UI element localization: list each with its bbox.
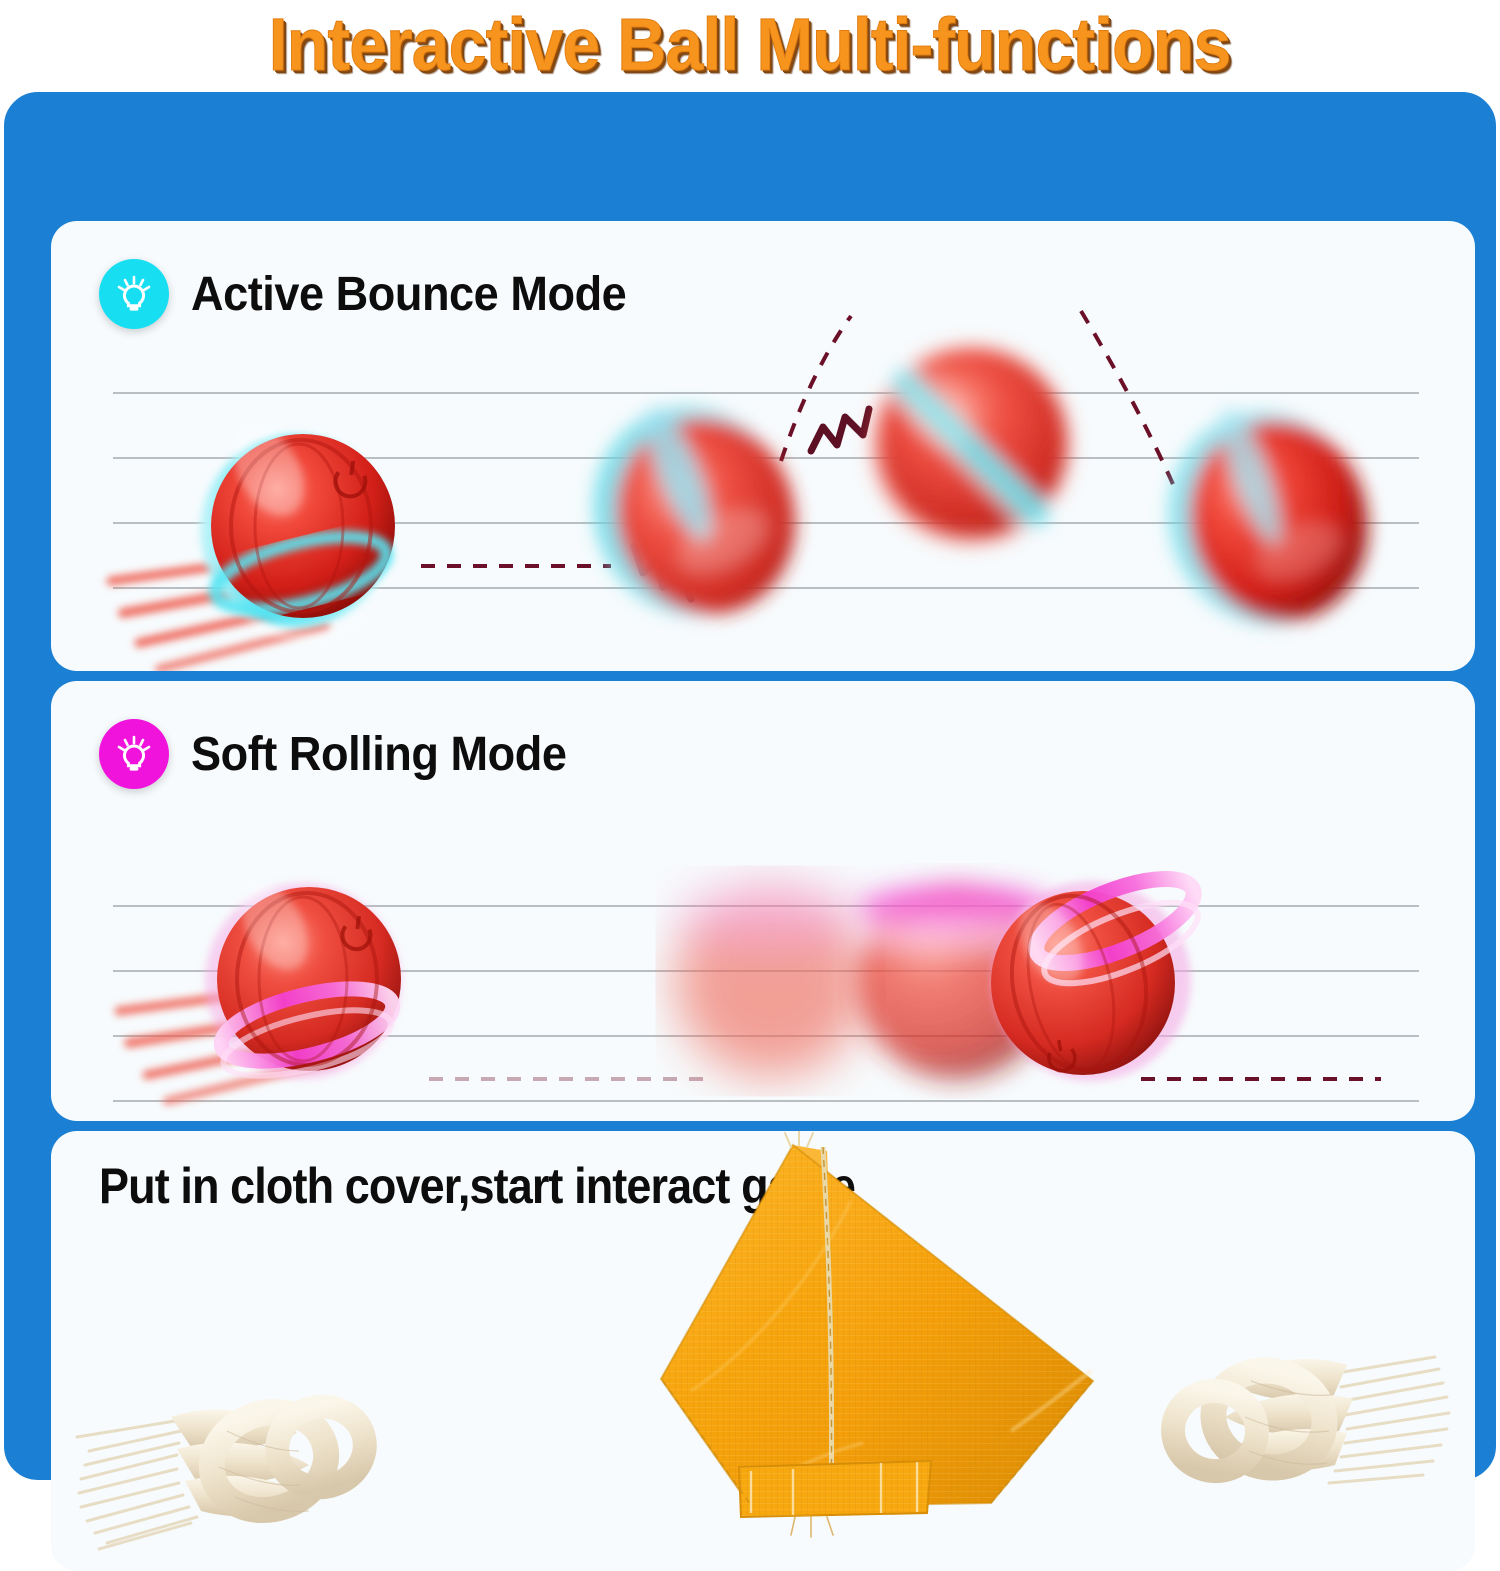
panel-cloth-cover: Put in cloth cover,start interact game xyxy=(51,1131,1475,1571)
page-header: Interactive Ball Multi-functions xyxy=(0,0,1500,88)
mode-title-label: Active Bounce Mode xyxy=(191,267,626,322)
rope-right xyxy=(1167,1357,1449,1483)
lightbulb-icon xyxy=(99,259,169,329)
ball-impact xyxy=(568,382,820,639)
ball-launch xyxy=(200,415,395,641)
page-title: Interactive Ball Multi-functions xyxy=(269,2,1231,87)
lightbulb-icon xyxy=(99,719,169,789)
trajectory-fall xyxy=(1081,311,1176,491)
ball-landing xyxy=(1147,392,1388,644)
ball-ghost-far xyxy=(675,885,867,1077)
header-soft-rolling: Soft Rolling Mode xyxy=(99,719,590,789)
cloth-toy-illustration xyxy=(51,1131,1475,1571)
mode-title-label: Soft Rolling Mode xyxy=(191,727,566,782)
infographic-frame: Active Bounce Mode xyxy=(4,92,1496,1480)
panel-soft-rolling: Soft Rolling Mode xyxy=(51,681,1475,1121)
cloth-toy-svg xyxy=(51,1131,1475,1571)
rope-left xyxy=(77,1397,373,1549)
fabric-pouch xyxy=(661,1131,1093,1537)
header-active-bounce: Active Bounce Mode xyxy=(99,259,654,329)
ball-airborne xyxy=(871,345,1071,545)
panel-active-bounce: Active Bounce Mode xyxy=(51,221,1475,671)
